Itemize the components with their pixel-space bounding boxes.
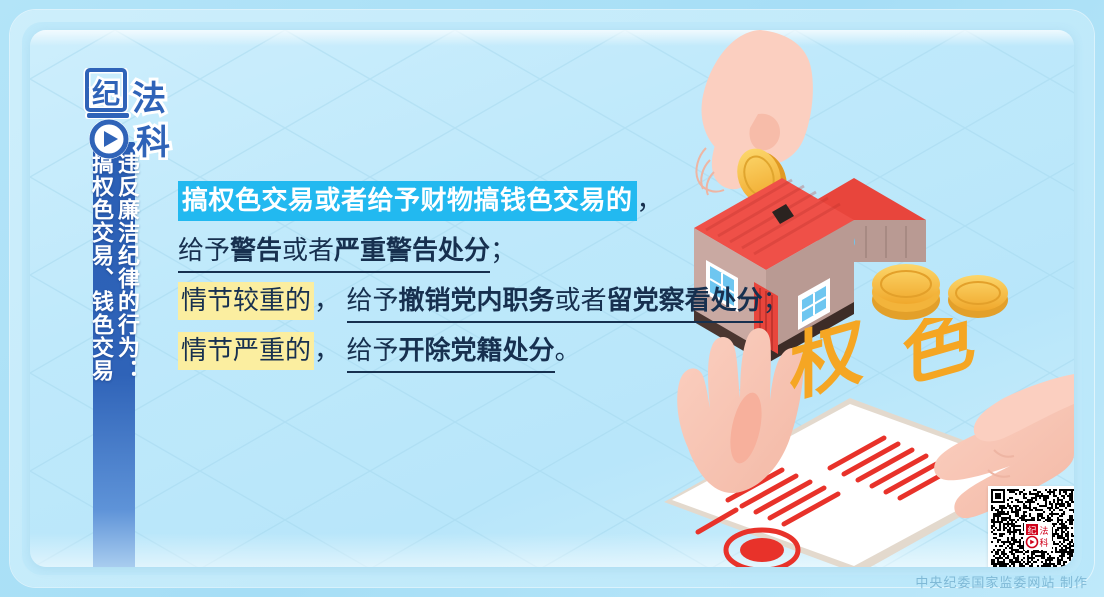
svg-text:色: 色	[902, 318, 976, 398]
line4-comma: ，	[314, 336, 340, 365]
line4-highlight: 情节严重的	[178, 332, 314, 370]
logo-char-fa: 法	[132, 80, 166, 118]
line3-semicolon: ；	[763, 286, 789, 315]
text-line-4: 情节严重的， 给予开除党籍处分。	[178, 338, 818, 364]
svg-text:纪: 纪	[1027, 525, 1036, 536]
line2-bold1: 警告	[230, 236, 282, 265]
vertical-banner: 违反廉洁纪律的行为： 搞权色交易、钱色交易	[93, 142, 135, 567]
content-card: 权 色 纪 法	[30, 30, 1074, 567]
line4-bold1: 开除党籍处分	[399, 336, 555, 365]
main-text-block: 搞权色交易或者给予财物搞钱色交易的， 给予警告或者严重警告处分； 情节较重的， …	[178, 188, 818, 364]
line1-comma: ，	[637, 186, 663, 215]
line2-prefix: 给予	[178, 236, 230, 265]
line2-underlined: 给予警告或者严重警告处分	[178, 236, 490, 273]
line4-period: 。	[555, 336, 581, 365]
credit-text: 中央纪委国家监委网站 制作	[915, 572, 1088, 591]
logo-char-ke: 科	[136, 124, 170, 160]
svg-text:纪: 纪	[92, 78, 120, 109]
line2-semicolon: ；	[490, 236, 516, 265]
text-line-2: 给予警告或者严重警告处分；	[178, 238, 818, 264]
line4-prefix: 给予	[347, 336, 399, 365]
poster: 权 色 纪 法	[0, 0, 1104, 597]
qr-center-logo: 纪 法 科	[1024, 522, 1052, 550]
svg-text:科: 科	[1039, 537, 1048, 548]
coin-stack	[872, 264, 1008, 320]
line2-mid: 或者	[282, 236, 334, 265]
line2-bold2: 严重警告处分	[334, 236, 490, 265]
line4-underlined: 给予开除党籍处分	[347, 336, 555, 373]
line3-underlined: 给予撤销党内职务或者留党察看处分	[347, 286, 763, 323]
big-chars-quanse: 权 色	[790, 318, 1020, 443]
line3-prefix: 给予	[347, 286, 399, 315]
logo-char-ji: 纪	[87, 70, 125, 110]
text-line-3: 情节较重的， 给予撤销党内职务或者留党察看处分；	[178, 288, 818, 314]
line3-mid: 或者	[555, 286, 607, 315]
line3-bold2: 留党察看处分	[607, 286, 763, 315]
line3-bold1: 撤销党内职务	[399, 286, 555, 315]
logo-char-bai	[85, 112, 131, 159]
svg-text:法: 法	[1039, 525, 1048, 536]
line3-comma: ，	[314, 286, 340, 315]
vertical-banner-text: 违反廉洁纪律的行为： 搞权色交易、钱色交易	[88, 152, 140, 382]
text-line-1: 搞权色交易或者给予财物搞钱色交易的，	[178, 188, 818, 214]
jifa-baike-logo: 纪 法 科	[83, 68, 179, 160]
line1-highlight: 搞权色交易或者给予财物搞钱色交易的	[178, 181, 637, 221]
line3-highlight: 情节较重的	[178, 282, 314, 320]
qr-code[interactable]: 纪 法 科	[988, 486, 1074, 567]
